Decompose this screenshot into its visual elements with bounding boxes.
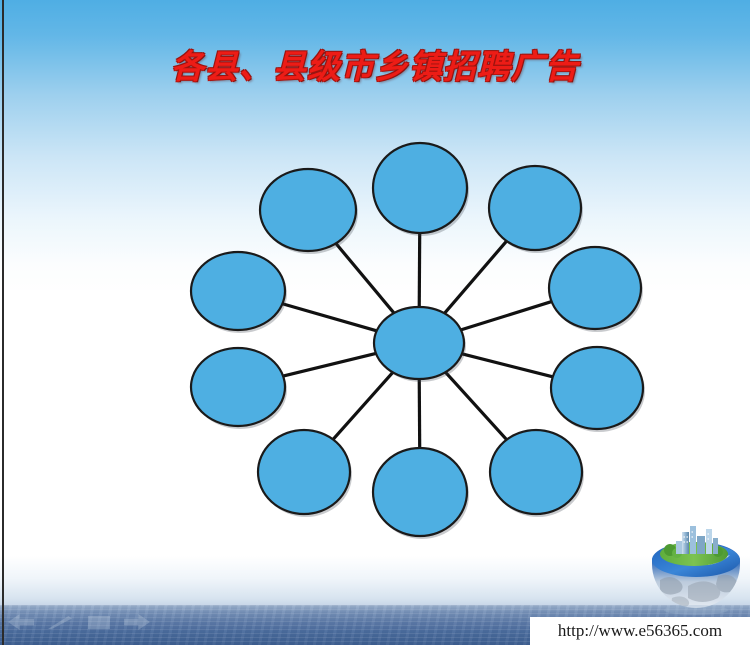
diagram-node-n4[interactable]	[551, 347, 645, 432]
diagram-node-n6[interactable]	[373, 448, 469, 539]
globe-shadow	[664, 605, 728, 615]
diagram-node-shape[interactable]	[374, 307, 464, 379]
diagram-edge	[336, 243, 394, 313]
diagram-node-n9[interactable]	[191, 252, 287, 333]
diagram-edge	[333, 372, 393, 439]
slide-canvas: 各县、县级市乡镇招聘广告	[0, 0, 750, 645]
diagram-node-shape[interactable]	[490, 430, 582, 514]
diagram-node-n2[interactable]	[489, 166, 583, 253]
globe-city-buildings-icon	[676, 526, 718, 554]
diagram-edge	[445, 372, 506, 440]
diagram-node-n5[interactable]	[490, 430, 584, 517]
diagram-node-shape[interactable]	[260, 169, 356, 251]
diagram-node-n10[interactable]	[260, 169, 358, 254]
diagram-edge	[444, 241, 506, 313]
diagram-edge	[282, 304, 376, 331]
watermark-url: http://www.e56365.com	[530, 617, 750, 645]
diagram-center-node[interactable]	[374, 307, 466, 382]
diagram-edge	[462, 354, 553, 377]
earth-globe-city-logo	[648, 524, 744, 616]
diagram-node-shape[interactable]	[551, 347, 643, 429]
diagram-node-shape[interactable]	[489, 166, 581, 250]
diagram-node-n3[interactable]	[549, 247, 643, 332]
diagram-node-n1[interactable]	[373, 143, 469, 236]
diagram-node-shape[interactable]	[258, 430, 350, 514]
diagram-node-shape[interactable]	[373, 448, 467, 536]
diagram-node-n7[interactable]	[258, 430, 352, 517]
diagram-node-shape[interactable]	[191, 252, 285, 330]
diagram-node-shape[interactable]	[373, 143, 467, 233]
earth-globe-city-icon	[648, 524, 744, 616]
diagram-edge	[283, 353, 376, 376]
diagram-node-n8[interactable]	[191, 348, 287, 429]
diagram-node-shape[interactable]	[549, 247, 641, 329]
diagram-edge	[461, 302, 552, 330]
diagram-node-shape[interactable]	[191, 348, 285, 426]
diagram-svg	[0, 0, 750, 645]
diagram-node-layer	[191, 143, 645, 539]
radial-hub-and-spoke-diagram	[0, 0, 750, 645]
